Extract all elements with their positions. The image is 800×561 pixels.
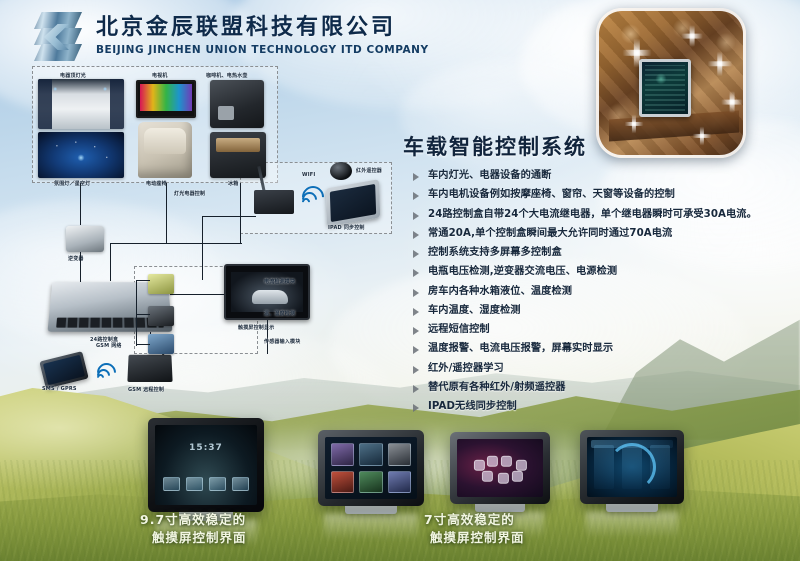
- wifi-signal-icon: [300, 184, 326, 210]
- connector-line: [166, 183, 167, 243]
- feature-item: 温度报警、电流电压报警，屏幕实时显示: [403, 343, 793, 356]
- tablet-stand: [606, 504, 658, 512]
- tablet-showcase-1: 15:37: [148, 418, 264, 521]
- tablet-screen: [325, 437, 417, 499]
- tablet-bezel: [580, 430, 684, 504]
- current-sensor-thumb: [148, 274, 174, 294]
- triangle-bullet-icon: [413, 212, 419, 220]
- feature-section: 车载智能控制系统 车内灯光、电器设备的通断 车内电机设备例如按摩座椅、窗帘、天窗…: [403, 131, 793, 420]
- temp-humid-sensor-thumb: [148, 306, 174, 326]
- mounted-tablet-screen: [639, 59, 691, 117]
- triangle-bullet-icon: [413, 308, 419, 316]
- triangle-bullet-icon: [413, 289, 419, 297]
- ceiling-light-thumb: [38, 79, 124, 129]
- caption-left-line1: 9.7寸高效稳定的: [140, 512, 246, 529]
- connector-line: [110, 243, 242, 244]
- label-sms-gprs: SMS / GPRS: [42, 386, 77, 392]
- feature-item: 电瓶电压检测,逆变器交流电压、电源检测: [403, 266, 793, 279]
- label-fridge: 冰箱: [228, 180, 238, 187]
- car-graphic-icon: [252, 290, 288, 304]
- triangle-bullet-icon: [413, 346, 419, 354]
- tablet-bezel: [450, 432, 550, 504]
- feature-item: 常通20A,单个控制盒瞬间最大允许同时通过70A电流: [403, 228, 793, 241]
- layered-cube-logo-icon: [30, 10, 86, 62]
- tablet-reflection: [586, 512, 678, 538]
- star-ceiling-thumb: [38, 132, 124, 178]
- connector-line: [240, 183, 241, 243]
- tablet-reflection: [324, 514, 417, 540]
- connector-line: [80, 183, 81, 225]
- poster-canvas: 北京金辰联盟科技有限公司 BEIJING JINCHEN UNION TECHN…: [0, 0, 800, 561]
- brand-header: 北京金辰联盟科技有限公司 BEIJING JINCHEN UNION TECHN…: [30, 10, 429, 62]
- massage-chair-thumb: [138, 122, 192, 178]
- sensor-input-thumb: [148, 334, 174, 354]
- feature-item: 控制系统支持多屏幕多控制盒: [403, 247, 793, 260]
- label-wifi: WIFI: [302, 172, 315, 178]
- label-touchscreen: 触摸屏控制显示: [238, 324, 274, 331]
- feature-item: 车内温度、湿度检测: [403, 305, 793, 318]
- connector-line: [267, 320, 268, 354]
- triangle-bullet-icon: [413, 173, 419, 181]
- label-temp-humid: 温、湿度检测: [264, 310, 295, 317]
- tablet-screen: [457, 439, 543, 497]
- gsm-module-device: [127, 355, 172, 382]
- tablet-showcase-4: [580, 430, 684, 512]
- label-current-module: 电流检测模块: [264, 278, 295, 285]
- tablet-screen: 15:37: [155, 425, 257, 505]
- label-coffee: 咖啡机、电热水壶: [206, 72, 248, 79]
- label-star-ceiling: 氛围灯／星空灯: [54, 180, 90, 187]
- feature-item: 车内电机设备例如按摩座椅、窗帘、天窗等设备的控制: [403, 189, 793, 202]
- wifi-module-device: [254, 190, 294, 214]
- connector-line: [80, 252, 81, 282]
- label-light-power-control: 灯光电器控制: [174, 190, 205, 197]
- feature-item: IPAD无线同步控制: [403, 401, 793, 414]
- connector-line: [136, 314, 150, 315]
- triangle-bullet-icon: [413, 269, 419, 277]
- tablet-stand: [475, 504, 525, 512]
- feature-item: 房车内各种水箱液位、温度检测: [403, 286, 793, 299]
- feature-list: 车内灯光、电器设备的通断 车内电机设备例如按摩座椅、窗帘、天窗等设备的控制 24…: [403, 170, 793, 414]
- screen-clock: 15:37: [189, 443, 223, 453]
- label-ir-remote: 红外遥控器: [356, 167, 382, 174]
- feature-item: 替代原有各种红外/射频遥控器: [403, 382, 793, 395]
- gsm-signal-icon: [96, 362, 118, 384]
- feature-item: 远程短信控制: [403, 324, 793, 337]
- feature-title: 车载智能控制系统: [403, 131, 793, 161]
- brand-name-cn: 北京金辰联盟科技有限公司: [96, 16, 429, 40]
- label-gsm-network: GSM 网络: [96, 342, 122, 349]
- ir-remote-device: [330, 162, 352, 180]
- feature-item: 24路控制盒自带24个大电流继电器，单个继电器瞬时可承受30A电流。: [403, 209, 793, 222]
- label-tv: 电视机: [152, 72, 168, 79]
- connector-line: [110, 243, 111, 281]
- label-ipad: IPAD 同步控制: [328, 224, 365, 231]
- tablet-showcase-2: [318, 430, 424, 514]
- label-ceiling-lights: 电器顶灯光: [60, 72, 86, 79]
- triangle-bullet-icon: [413, 192, 419, 200]
- tv-thumb: [136, 80, 196, 118]
- caption-right-line1: 7寸高效稳定的: [424, 512, 515, 529]
- coffee-machine-thumb: [210, 80, 264, 128]
- caption-left-line2: 触摸屏控制界面: [152, 530, 247, 547]
- feature-item: 红外/遥控器学习: [403, 363, 793, 376]
- feature-item: 车内灯光、电器设备的通断: [403, 170, 793, 183]
- tablet-stand: [345, 506, 397, 514]
- triangle-bullet-icon: [413, 404, 419, 412]
- connector-line: [136, 344, 150, 345]
- screen-gauge-icon: [608, 443, 656, 491]
- connector-line: [202, 216, 203, 280]
- connector-line: [136, 280, 137, 346]
- tablet-bezel: [318, 430, 424, 506]
- screen-app-icons: [163, 477, 249, 491]
- triangle-bullet-icon: [413, 366, 419, 374]
- caption-right-line2: 触摸屏控制界面: [430, 530, 525, 547]
- triangle-bullet-icon: [413, 327, 419, 335]
- screen-ring-menu: [470, 452, 530, 484]
- connector-line: [136, 280, 150, 281]
- brand-name-en: BEIJING JINCHEN UNION TECHNOLOGY ITD COM…: [96, 44, 429, 56]
- screen-media-grid: [331, 443, 410, 494]
- tablet-showcase-3: [450, 432, 550, 512]
- label-chair: 电动座椅: [146, 180, 167, 187]
- tablet-bezel: 15:37: [148, 418, 264, 512]
- label-sensor-input: 传感器输入模块: [264, 338, 300, 345]
- connector-line: [202, 216, 256, 217]
- tablet-screen: [587, 437, 677, 497]
- triangle-bullet-icon: [413, 250, 419, 258]
- label-gsm-remote: GSM 远程控制: [128, 386, 164, 393]
- connector-line: [170, 294, 224, 295]
- inverter-device: [66, 226, 104, 252]
- triangle-bullet-icon: [413, 231, 419, 239]
- triangle-bullet-icon: [413, 385, 419, 393]
- system-diagram: 电器顶灯光 电视机 咖啡机、电热水壶 氛围灯／星空灯 电动座椅 冰箱 灯光电器控…: [24, 66, 404, 356]
